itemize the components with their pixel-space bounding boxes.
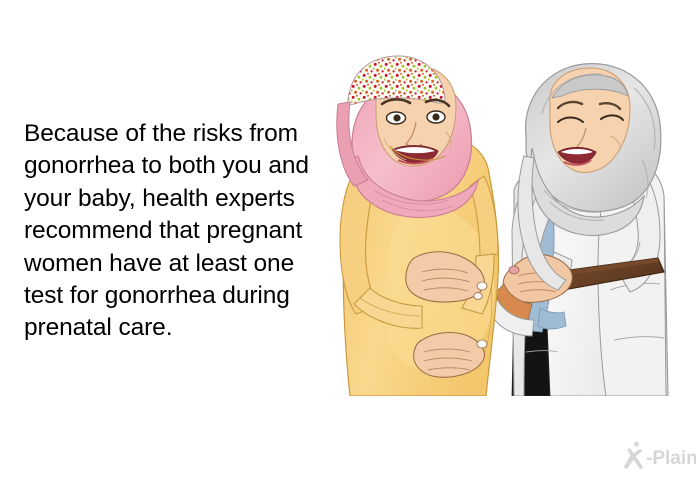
hijab-floral-band [348,56,445,104]
x-plain-logo: -Plain [622,440,696,470]
caption-text: Because of the risks from gonorrhea to b… [24,118,336,345]
logo-text: -Plain [646,448,696,469]
pregnant-woman-with-health-provider-illustration [318,40,690,400]
slide-canvas: Because of the risks from gonorrhea to b… [0,0,700,480]
illustration-container [318,40,690,400]
health-care-provider-figure [486,64,668,396]
running-person-x-icon [624,442,644,470]
pregnant-woman-figure [337,56,499,396]
